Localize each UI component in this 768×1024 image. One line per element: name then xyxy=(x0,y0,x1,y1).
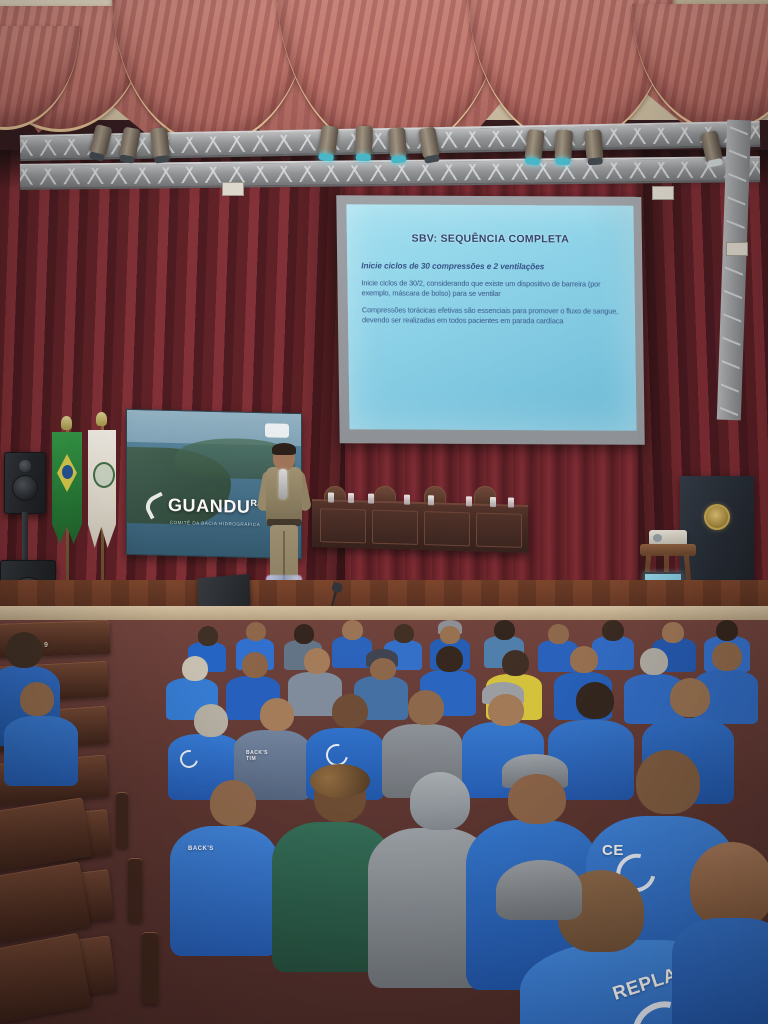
flag-finial-left xyxy=(61,416,72,430)
bar-light xyxy=(652,186,674,200)
auditorium-photo: SBV: SEQUÊNCIA COMPLETA Inicie ciclos de… xyxy=(0,0,768,1024)
audience-head xyxy=(716,620,738,641)
aisle-rail-post xyxy=(116,792,128,848)
audience-head xyxy=(182,656,208,681)
par-can-light xyxy=(524,129,545,161)
audience-head xyxy=(242,652,268,678)
audience-head xyxy=(370,658,396,680)
auditorium-house: 23 16 9 xyxy=(0,620,768,1024)
audience-head xyxy=(332,694,368,728)
audience-head xyxy=(394,624,414,643)
audience-head xyxy=(198,626,218,646)
seat-row-foreground xyxy=(0,933,92,1024)
audience-head xyxy=(260,698,294,731)
banner-badge-icon xyxy=(265,423,289,438)
shirt-text: BACK'S TIM xyxy=(246,750,268,762)
audience-head xyxy=(342,620,363,640)
aisle-rail-post xyxy=(128,858,142,922)
audience-head xyxy=(6,632,42,668)
shirt-text: CE xyxy=(602,842,624,859)
par-can-light xyxy=(554,130,573,161)
table-panel xyxy=(320,508,366,543)
bar-light xyxy=(726,242,748,256)
slide-title: SBV: SEQUÊNCIA COMPLETA xyxy=(361,232,620,245)
audience-head xyxy=(294,624,314,644)
audience-head xyxy=(576,682,614,719)
table-panel xyxy=(424,511,470,546)
handheld-microphone xyxy=(279,469,287,499)
water-glass xyxy=(404,495,410,505)
audience-head xyxy=(210,780,256,826)
banner-logo-word: GUANDU xyxy=(168,494,251,516)
audience-head xyxy=(436,646,463,672)
hooded-head xyxy=(410,772,470,830)
slide-bullet-3: Compressões torácicas efetivas são essen… xyxy=(362,305,621,326)
audience-head xyxy=(570,646,598,673)
seat-number: 9 xyxy=(44,642,48,649)
pa-speaker-top xyxy=(4,452,46,514)
table-panel xyxy=(372,510,418,545)
slide-bullet-1: Inicie ciclos de 30 compressões e 2 vent… xyxy=(361,260,620,272)
water-glass xyxy=(490,497,496,507)
stage-monitor-speaker xyxy=(197,574,250,610)
audience-head xyxy=(508,774,566,824)
audience-body xyxy=(4,716,78,786)
flag-finial-right xyxy=(96,412,107,426)
bar-light xyxy=(222,182,244,196)
audience-head xyxy=(690,842,768,928)
audience-head xyxy=(662,622,684,643)
audience-head xyxy=(488,694,524,726)
audience-head xyxy=(494,620,515,640)
head-table xyxy=(312,499,528,553)
par-can-light xyxy=(584,129,604,160)
audience-body xyxy=(672,918,768,1024)
par-can-light xyxy=(150,127,170,159)
water-glass xyxy=(466,496,472,506)
audience-head xyxy=(602,620,624,641)
audience-head xyxy=(408,690,444,725)
audience-head xyxy=(548,624,569,644)
water-glass xyxy=(428,495,434,505)
curly-hair xyxy=(310,764,370,798)
audience-head xyxy=(712,642,742,671)
speaker-woofer xyxy=(12,475,38,501)
audience-body xyxy=(170,826,278,956)
gray-cap xyxy=(496,860,582,920)
audience-head xyxy=(304,648,330,674)
aisle-rail-post xyxy=(142,932,158,1004)
gold-crest-emblem xyxy=(704,504,730,530)
audience-head xyxy=(640,648,668,675)
presenter-hair xyxy=(272,443,296,455)
par-can-light xyxy=(355,126,373,157)
water-glass xyxy=(508,497,514,507)
projected-slide: SBV: SEQUÊNCIA COMPLETA Inicie ciclos de… xyxy=(346,204,636,430)
par-can-light xyxy=(388,127,407,158)
audience-head xyxy=(670,678,710,717)
audience-head xyxy=(636,750,700,814)
projection-screen-frame: SBV: SEQUÊNCIA COMPLETA Inicie ciclos de… xyxy=(336,195,645,445)
water-glass xyxy=(348,493,354,503)
speaker-tweeter xyxy=(19,460,31,472)
audience-head xyxy=(440,626,460,644)
water-glass xyxy=(328,492,334,502)
audience-body xyxy=(592,636,634,670)
audience-head xyxy=(502,650,529,676)
audience-head xyxy=(246,622,266,641)
audience-head xyxy=(194,704,228,737)
table-panel xyxy=(476,513,522,548)
shirt-text: BACK'S xyxy=(188,846,214,852)
slide-bullet-2: Inicie ciclos de 30/2, considerando que … xyxy=(361,279,620,300)
audience-head xyxy=(20,682,54,716)
water-glass xyxy=(368,494,374,504)
